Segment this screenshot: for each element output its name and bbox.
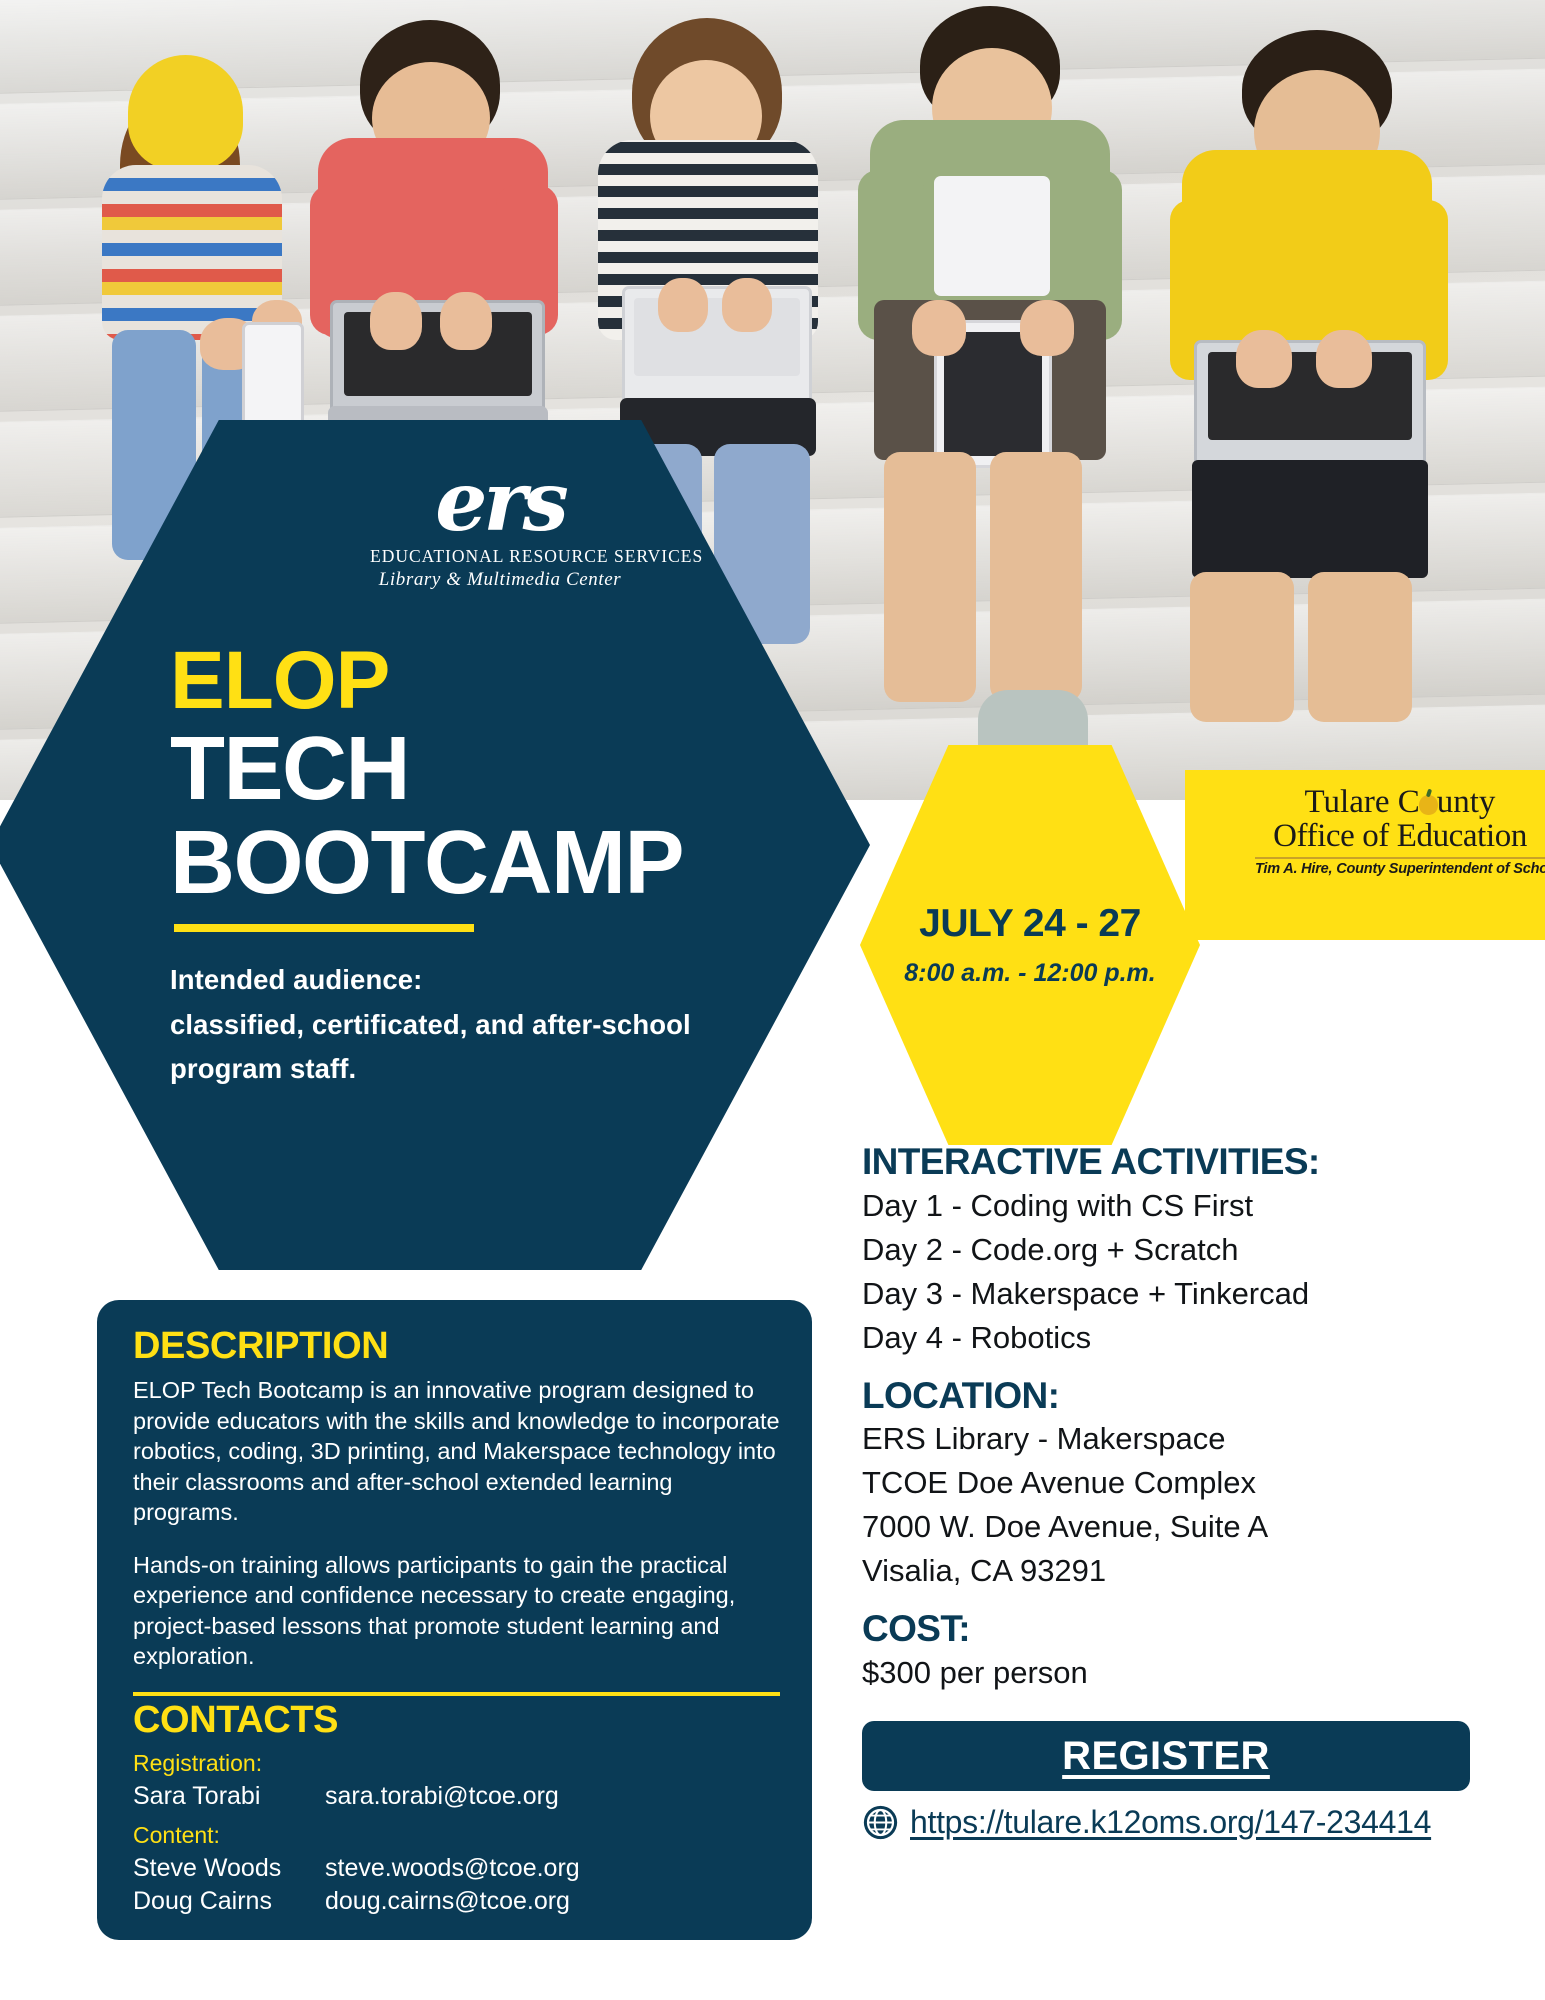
details-column: INTERACTIVE ACTIVITIES: Day 1 - Coding w… [862,1140,1502,1841]
tcoe-line1-pre: Tulare C [1305,784,1420,820]
contact-row: Doug Cairns doug.cairns@tcoe.org [133,1885,780,1918]
title-tech: TECH [170,723,760,817]
activity-item: Day 2 - Code.org + Scratch [862,1228,1502,1272]
registration-label: Registration: [133,1747,780,1780]
contact-row: Steve Woods steve.woods@tcoe.org [133,1852,780,1885]
contact-name: Sara Torabi [133,1780,325,1813]
title-underline [174,924,474,932]
register-button-label: REGISTER [1062,1734,1270,1779]
activity-item: Day 1 - Coding with CS First [862,1184,1502,1228]
title-elop: ELOP [170,639,760,723]
description-heading: DESCRIPTION [133,1326,780,1367]
audience-line-3: program staff. [170,1047,760,1092]
ers-logo: ers EDUCATIONAL RESOURCE SERVICES Librar… [300,465,630,591]
audience-line-2: classified, certificated, and after-scho… [170,1003,760,1048]
hero-content: ers EDUCATIONAL RESOURCE SERVICES Librar… [0,420,880,1270]
tcoe-line1-post: unty [1437,784,1496,820]
activity-item: Day 3 - Makerspace + Tinkercad [862,1272,1502,1316]
contact-email[interactable]: steve.woods@tcoe.org [325,1852,580,1885]
registration-url-row[interactable]: https://tulare.k12oms.org/147-234414 [862,1804,1502,1841]
ers-wordmark: ers [370,465,630,540]
contact-row: Sara Torabi sara.torabi@tcoe.org [133,1780,780,1813]
activities-heading: INTERACTIVE ACTIVITIES: [862,1140,1502,1184]
tcoe-logo-line1: Tulare Cunty [1255,786,1545,819]
cost-heading: COST: [862,1607,1502,1651]
date-badge: JULY 24 - 27 8:00 a.m. - 12:00 p.m. [860,745,1200,1145]
contacts-divider [133,1692,780,1696]
contact-name: Doug Cairns [133,1885,325,1918]
location-heading: LOCATION: [862,1374,1502,1418]
tcoe-divider [1255,857,1545,859]
contact-name: Steve Woods [133,1852,325,1885]
location-line: Visalia, CA 93291 [862,1549,1502,1593]
tcoe-logo: Tulare Cunty Office of Education Tim A. … [1255,786,1545,877]
activity-item: Day 4 - Robotics [862,1316,1502,1360]
event-dates: JULY 24 - 27 [919,902,1141,946]
contact-email[interactable]: doug.cairns@tcoe.org [325,1885,570,1918]
tcoe-tagline: Tim A. Hire, County Superintendent of Sc… [1255,861,1545,877]
contacts-heading: CONTACTS [133,1700,780,1741]
description-card: DESCRIPTION ELOP Tech Bootcamp is an inn… [97,1300,812,1940]
audience-line-1: Intended audience: [170,958,760,1003]
content-label: Content: [133,1819,780,1852]
cost-value: $300 per person [862,1651,1502,1695]
description-paragraph-1: ELOP Tech Bootcamp is an innovative prog… [133,1375,780,1528]
contact-email[interactable]: sara.torabi@tcoe.org [325,1780,559,1813]
event-time: 8:00 a.m. - 12:00 p.m. [904,959,1156,988]
description-paragraph-2: Hands-on training allows participants to… [133,1550,780,1672]
registration-url[interactable]: https://tulare.k12oms.org/147-234414 [910,1804,1431,1841]
location-line: TCOE Doe Avenue Complex [862,1461,1502,1505]
location-line: ERS Library - Makerspace [862,1417,1502,1461]
register-button[interactable]: REGISTER [862,1721,1470,1791]
location-line: 7000 W. Doe Avenue, Suite A [862,1505,1502,1549]
apple-icon [1419,795,1438,815]
title-bootcamp: BOOTCAMP [170,817,760,911]
ers-subtitle-2: Library & Multimedia Center [370,569,630,591]
tcoe-logo-line2: Office of Education [1255,819,1545,854]
globe-icon [862,1804,899,1841]
ers-subtitle-1: EDUCATIONAL RESOURCE SERVICES [370,546,630,567]
